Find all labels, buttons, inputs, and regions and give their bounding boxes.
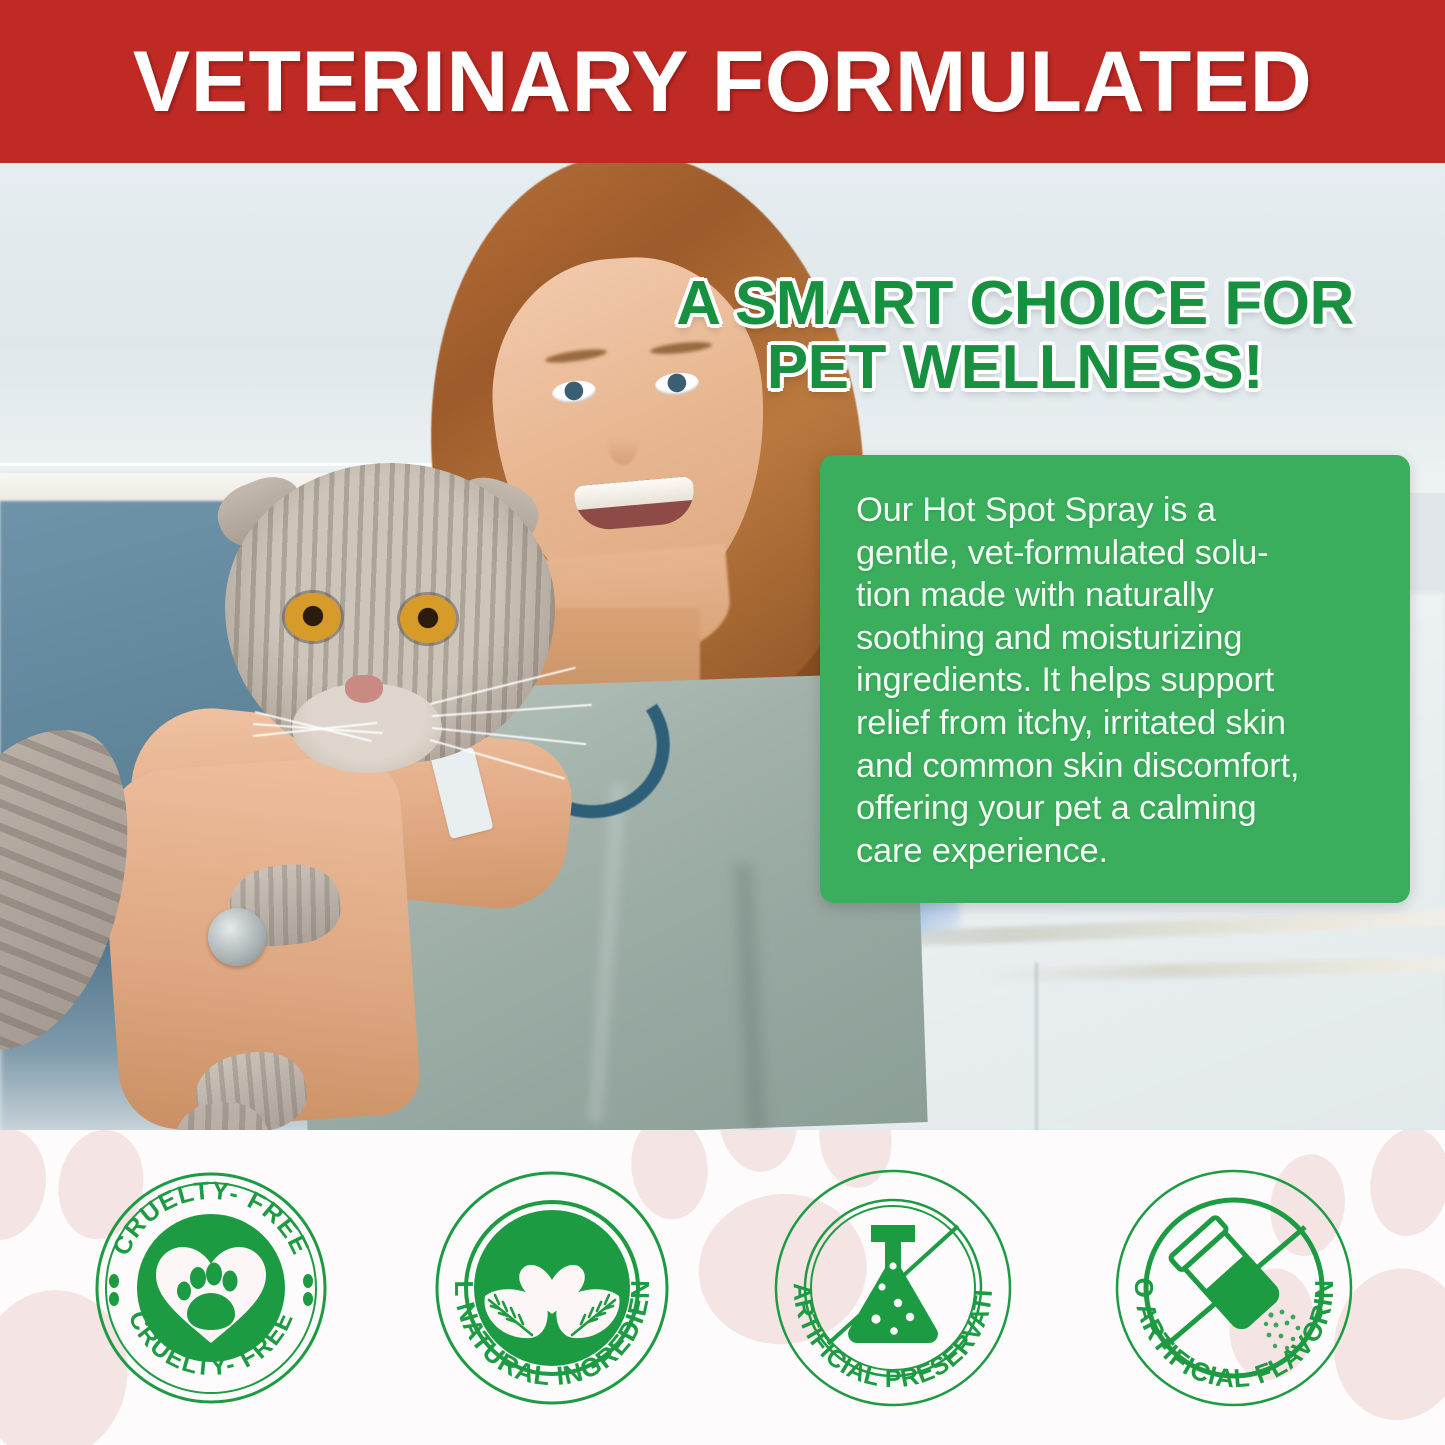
headline: A SMART CHOICE FOR PET WELLNESS! bbox=[620, 272, 1410, 401]
no-artificial-flavoring-seal: NO ARTIFICIAL FLAVORING bbox=[1111, 1165, 1357, 1411]
headline-line-2: PET WELLNESS! bbox=[620, 336, 1410, 400]
vet-nose bbox=[608, 421, 638, 465]
badge-all-natural-ingredients[interactable]: ALL NATURAL INGREDIENTS bbox=[429, 1165, 675, 1411]
stethoscope-chestpiece bbox=[208, 908, 266, 966]
banner-title: VETERINARY FORMULATED bbox=[133, 39, 1312, 125]
badge-no-artificial-flavoring[interactable]: NO ARTIFICIAL FLAVORING bbox=[1111, 1165, 1357, 1411]
flask-crossed-out-icon bbox=[828, 1225, 958, 1344]
cat-eye-right bbox=[400, 595, 456, 643]
certification-badge-strip: CRUELTY- FREE CRUELTY- FREE bbox=[0, 1130, 1445, 1445]
cat-nose bbox=[345, 675, 383, 703]
headline-line-1: A SMART CHOICE FOR bbox=[620, 272, 1410, 336]
badge-no-artificial-preservatives[interactable]: NO ARTIFICIAL PRESERVATIVES bbox=[770, 1165, 1016, 1411]
cruelty-free-seal: CRUELTY- FREE CRUELTY- FREE bbox=[88, 1165, 334, 1411]
cabinet-seam bbox=[1035, 963, 1038, 1130]
badge-row: CRUELTY- FREE CRUELTY- FREE bbox=[0, 1130, 1445, 1445]
all-natural-ingredients-seal: ALL NATURAL INGREDIENTS bbox=[429, 1165, 675, 1411]
top-banner: VETERINARY FORMULATED bbox=[0, 0, 1445, 163]
description-box: Our Hot Spot Spray is a gentle, vet-form… bbox=[820, 455, 1410, 903]
no-artificial-preservatives-seal: NO ARTIFICIAL PRESERVATIVES bbox=[770, 1165, 1016, 1411]
cat-eye-left bbox=[285, 593, 341, 641]
badge-cruelty-free[interactable]: CRUELTY- FREE CRUELTY- FREE bbox=[88, 1165, 334, 1411]
product-infographic: VETERINARY FORMULATED bbox=[0, 0, 1445, 1445]
description-text: Our Hot Spot Spray is a gentle, vet-form… bbox=[856, 489, 1380, 872]
salt-shaker-crossed-out-icon bbox=[1163, 1216, 1305, 1350]
